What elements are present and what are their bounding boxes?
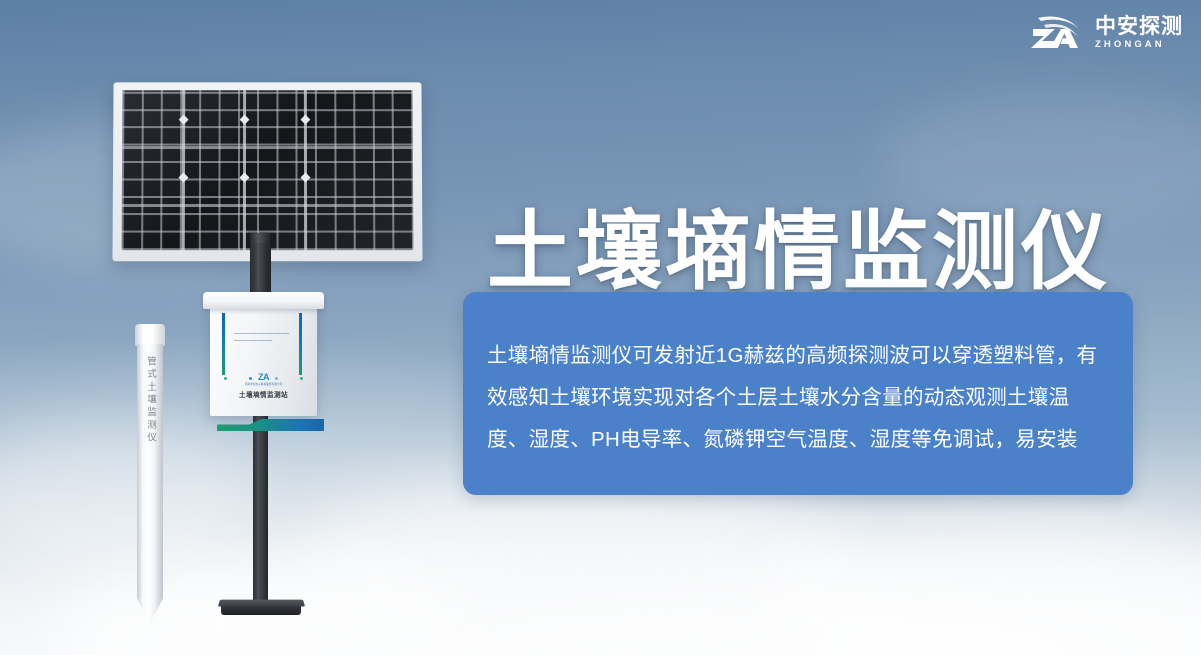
brand-logo-text: 中安探测 ZHONGAN <box>1095 16 1183 50</box>
enclosure-body: ZA 河南中安电子科技股份有限公司 土壤墒情监测站 <box>210 307 317 416</box>
enclosure-lid <box>203 292 324 309</box>
enclosure-station-name: 土壤墒情监测站 <box>239 389 288 399</box>
page-title: 土壤墒情监测仪 <box>487 207 1110 297</box>
enclosure-company-line: 河南中安电子科技股份有限公司 <box>245 384 283 387</box>
enclosure-label: ZA 河南中安电子科技股份有限公司 土壤墒情监测站 <box>224 373 303 403</box>
description-panel: 土壤墒情监测仪可发射近1G赫兹的高频探测波可以穿透塑料管，有效感知土壤环境实现对… <box>463 292 1133 495</box>
tube-cap <box>135 324 165 346</box>
brand-name-en: ZHONGAN <box>1095 40 1183 50</box>
tube-soil-sensor: 管式土壤监测仪 <box>133 324 167 624</box>
za-swoosh-icon <box>1028 12 1086 54</box>
enclosure-stripe <box>222 313 225 375</box>
description-text: 土壤墒情监测仪可发射近1G赫兹的高频探测波可以穿透塑料管，有效感知土壤环境实现对… <box>487 335 1107 461</box>
brand-logo[interactable]: 中安探测 ZHONGAN <box>1028 12 1183 54</box>
solar-panel-cells <box>122 90 414 250</box>
label-dot-row <box>224 377 303 380</box>
enclosure-bottom-band <box>217 415 324 431</box>
monitoring-station-enclosure: ZA 河南中安电子科技股份有限公司 土壤墒情监测站 <box>203 292 324 423</box>
tube-tip <box>137 576 163 624</box>
pole-base-plate <box>215 597 308 621</box>
tube-label: 管式土壤监测仪 <box>133 356 167 445</box>
product-banner: ZA 河南中安电子科技股份有限公司 土壤墒情监测站 管式土壤监测仪 土壤墒情监测… <box>0 0 1201 655</box>
enclosure-stripe <box>299 313 302 375</box>
brand-name-cn: 中安探测 <box>1095 16 1183 37</box>
